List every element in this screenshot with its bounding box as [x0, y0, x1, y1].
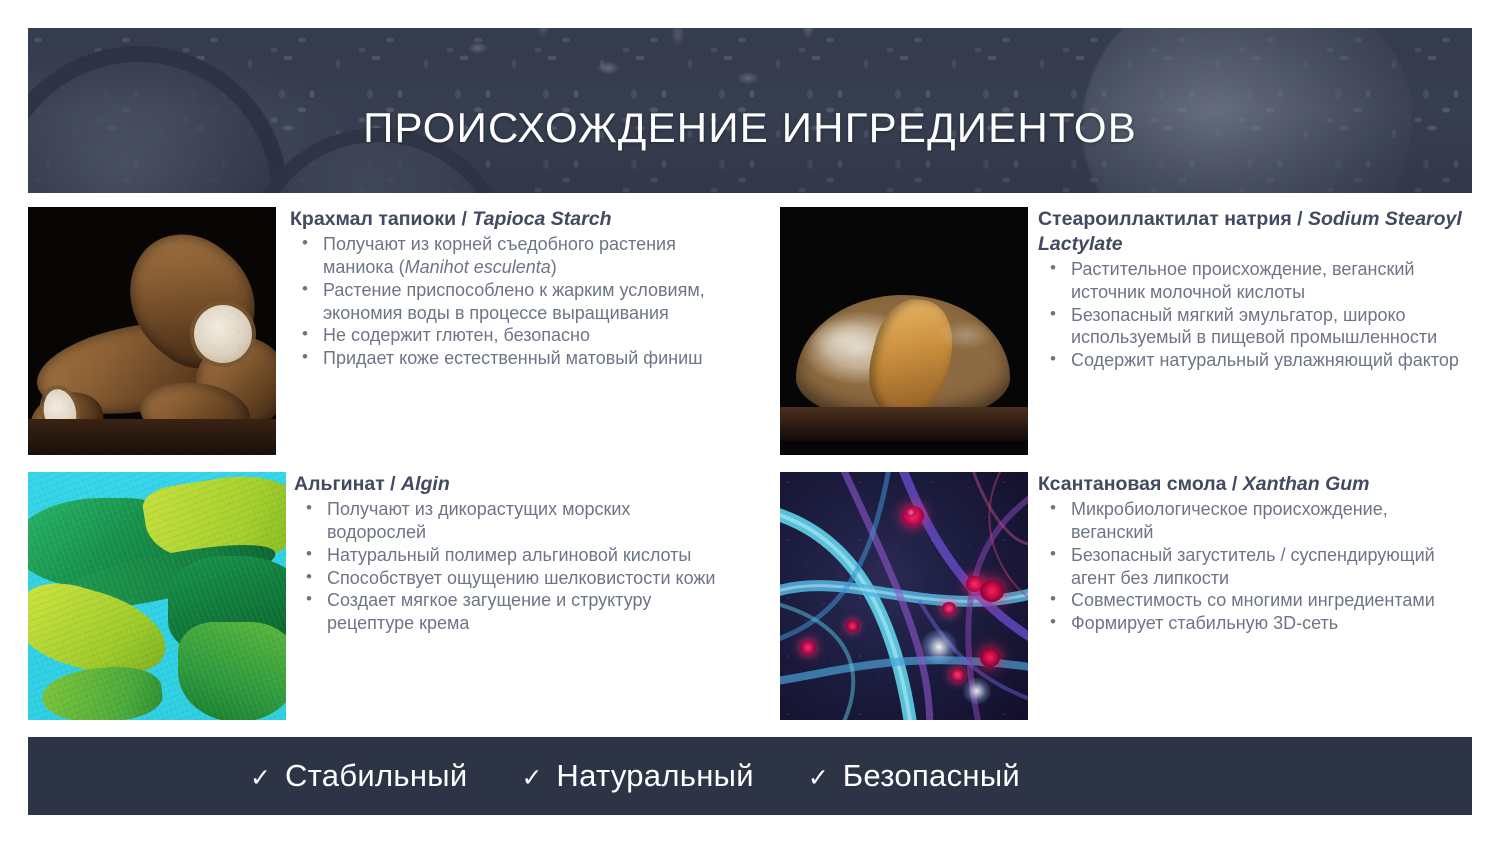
card-text-sls: Стеароиллактилат натрия / Sodium Stearoy…: [1028, 207, 1472, 455]
list-item: Формирует стабильную 3D-сеть: [1038, 612, 1472, 635]
ingredient-card-tapioca: Крахмал тапиоки / Tapioca Starch Получаю…: [28, 207, 728, 455]
claim-stable: ✓ Стабильный: [250, 758, 467, 794]
ingredient-card-algin: Альгинат / Algin Получают из дикорастущи…: [28, 472, 728, 720]
card-title-algin: Альгинат / Algin: [294, 472, 728, 497]
list-item: Безопасный мягкий эмульгатор, широко исп…: [1038, 304, 1472, 350]
bullet-list-algin: Получают из дикорастущих морских водорос…: [294, 498, 728, 635]
microbial-network-photo: [780, 472, 1028, 720]
card-text-algin: Альгинат / Algin Получают из дикорастущи…: [286, 472, 728, 720]
claim-natural: ✓ Натуральный: [521, 758, 753, 794]
list-item: Совместимость со многими ингредиентами: [1038, 589, 1472, 612]
card-title-sls: Стеароиллактилат натрия / Sodium Stearoy…: [1038, 207, 1472, 257]
list-item: Растение приспособлено к жарким условиям…: [290, 279, 728, 325]
bullet-list-tapioca: Получают из корней съедобного растения м…: [290, 233, 728, 370]
claim-label: Стабильный: [285, 758, 468, 794]
check-icon: ✓: [808, 766, 829, 791]
card-text-tapioca: Крахмал тапиоки / Tapioca Starch Получаю…: [276, 207, 728, 455]
bullet-list-xanthan: Микробиологическое происхождение, веганс…: [1038, 498, 1472, 635]
ingredient-card-grid: Крахмал тапиоки / Tapioca Starch Получаю…: [28, 207, 1472, 722]
list-item: Содержит натуральный увлажняющий фактор: [1038, 349, 1472, 372]
list-item: Не содержит глютен, безопасно: [290, 324, 728, 347]
ingredient-card-sodium-stearoyl-lactylate: Стеароиллактилат натрия / Sodium Stearoy…: [780, 207, 1472, 455]
card-title-tapioca: Крахмал тапиоки / Tapioca Starch: [290, 207, 728, 232]
bread-loaf-photo: [780, 207, 1028, 455]
slide-canvas: ПРОИСХОЖДЕНИЕ ИНГРЕДИЕНТОВ Крахмал тапио…: [0, 0, 1500, 844]
footer-claims-list: ✓ Стабильный ✓ Натуральный ✓ Безопасный: [28, 758, 1020, 794]
ingredient-card-xanthan-gum: Ксантановая смола / Xanthan Gum Микробио…: [780, 472, 1472, 720]
list-item: Придает коже естественный матовый финиш: [290, 347, 728, 370]
seaweed-kelp-photo: [28, 472, 286, 720]
claim-safe: ✓ Безопасный: [808, 758, 1020, 794]
card-title-xanthan: Ксантановая смола / Xanthan Gum: [1038, 472, 1472, 497]
check-icon: ✓: [250, 766, 271, 791]
header-banner: ПРОИСХОЖДЕНИЕ ИНГРЕДИЕНТОВ: [28, 28, 1472, 193]
cassava-roots-photo: [28, 207, 276, 455]
bullet-list-sls: Растительное происхождение, веганский ис…: [1038, 258, 1472, 372]
list-item: Натуральный полимер альгиновой кислоты: [294, 544, 728, 567]
page-title: ПРОИСХОЖДЕНИЕ ИНГРЕДИЕНТОВ: [28, 104, 1472, 152]
claim-label: Безопасный: [843, 758, 1020, 794]
list-item: Получают из корней съедобного растения м…: [290, 233, 728, 279]
card-text-xanthan: Ксантановая смола / Xanthan Gum Микробио…: [1028, 472, 1472, 720]
footer-claims-bar: ✓ Стабильный ✓ Натуральный ✓ Безопасный: [28, 737, 1472, 815]
list-item: Способствует ощущению шелковистости кожи: [294, 567, 728, 590]
list-item: Микробиологическое происхождение, веганс…: [1038, 498, 1472, 544]
list-item: Растительное происхождение, веганский ис…: [1038, 258, 1472, 304]
claim-label: Натуральный: [556, 758, 753, 794]
list-item: Создает мягкое загущение и структуру рец…: [294, 589, 728, 635]
list-item: Безопасный загуститель / суспендирующий …: [1038, 544, 1472, 590]
list-item: Получают из дикорастущих морских водорос…: [294, 498, 728, 544]
check-icon: ✓: [521, 766, 542, 791]
